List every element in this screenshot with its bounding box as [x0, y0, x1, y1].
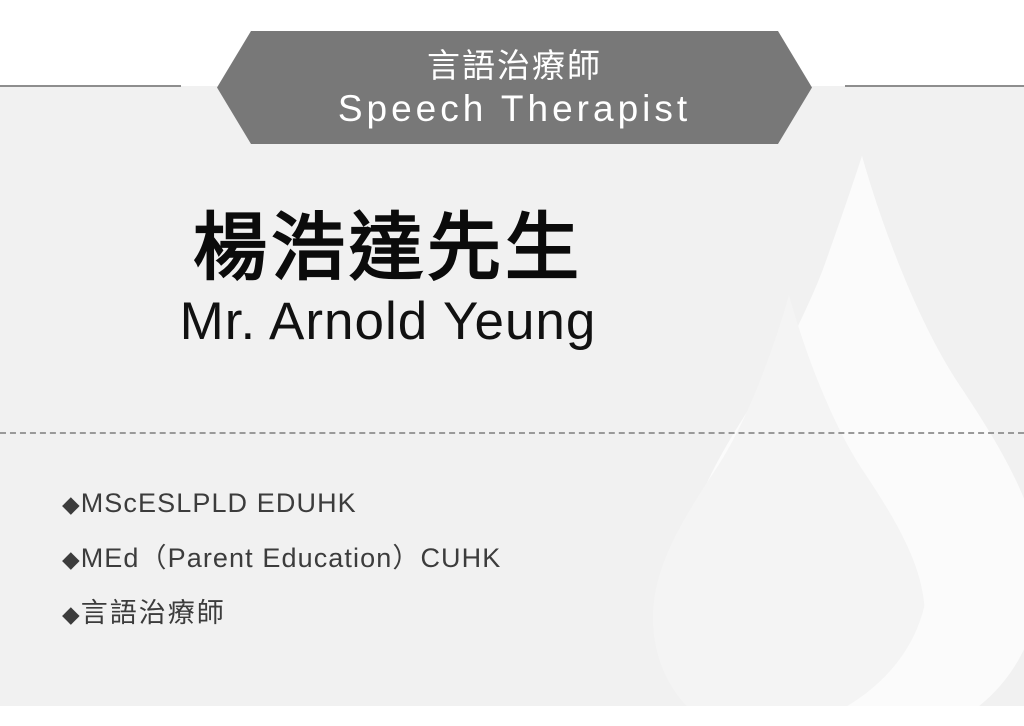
- dashed-divider: [0, 432, 1024, 434]
- credentials-list: ◆ MScESLPLD EDUHK ◆ MEd（Parent Education…: [62, 486, 762, 651]
- credential-item: ◆ 言語治療師: [62, 596, 762, 651]
- role-title-zh: 言語治療師: [427, 45, 602, 87]
- credential-text: MScESLPLD EDUHK: [81, 486, 357, 520]
- credential-text: 言語治療師: [81, 596, 226, 630]
- person-name-zh: 楊浩達先生: [0, 205, 776, 291]
- diamond-bullet-icon: ◆: [62, 603, 80, 626]
- person-name-block: 楊浩達先生 Mr. Arnold Yeung: [0, 205, 1024, 353]
- credential-item: ◆ MScESLPLD EDUHK: [62, 486, 762, 541]
- profile-card: 言語治療師 Speech Therapist 楊浩達先生 Mr. Arnold …: [0, 0, 1024, 726]
- credential-item: ◆ MEd（Parent Education）CUHK: [62, 541, 762, 596]
- credential-text: MEd（Parent Education）CUHK: [81, 541, 502, 575]
- rule-left: [0, 85, 181, 87]
- diamond-bullet-icon: ◆: [62, 493, 80, 516]
- rule-right: [845, 85, 1024, 87]
- role-title-en: Speech Therapist: [338, 87, 691, 131]
- role-banner: 言語治療師 Speech Therapist: [217, 31, 812, 144]
- diamond-bullet-icon: ◆: [62, 548, 80, 571]
- person-name-en: Mr. Arnold Yeung: [0, 291, 776, 353]
